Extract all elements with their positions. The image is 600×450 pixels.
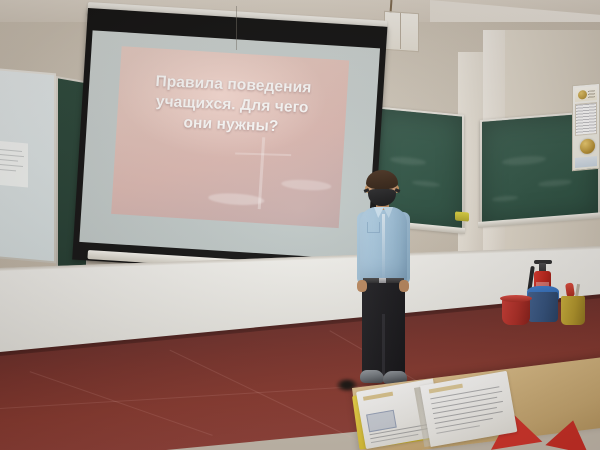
scales-pan-right xyxy=(281,178,332,191)
textbook-header-left xyxy=(363,392,393,401)
ventilation-panel-icon xyxy=(384,11,419,52)
chalkboard-sponge xyxy=(455,211,469,221)
textbook-header-right xyxy=(429,384,463,394)
ventilation-panel-seam xyxy=(400,13,401,49)
projection-screen-frame: Правила поведения учащихся. Для чего они… xyxy=(72,8,387,278)
projected-slide: Правила поведения учащихся. Для чего они… xyxy=(111,46,349,228)
classroom-photo: Правила поведения учащихся. Для чего они… xyxy=(0,0,600,450)
wall-certificate-poster xyxy=(572,83,600,171)
face-mask-icon xyxy=(368,189,396,206)
textbook-figure xyxy=(366,410,397,433)
yellow-bucket xyxy=(561,296,585,325)
poster-header xyxy=(575,86,597,102)
scales-pan-left xyxy=(208,192,265,206)
poster-title-text xyxy=(588,90,595,98)
student-shoe-left xyxy=(360,370,384,383)
shirt-pocket xyxy=(367,222,380,233)
poster-body-text xyxy=(575,102,597,136)
screen-hanging-wire xyxy=(236,6,237,50)
shirt-placket xyxy=(382,214,385,280)
standing-student xyxy=(352,172,414,390)
trouser-crease xyxy=(382,314,385,376)
slide-title-text: Правила поведения учащихся. Для чего они… xyxy=(124,71,340,139)
student-right-hand xyxy=(399,280,409,292)
projection-screen-surface: Правила поведения учащихся. Для чего они… xyxy=(79,30,380,260)
poster-crest-icon xyxy=(578,90,587,100)
belt-buckle xyxy=(379,278,386,283)
blue-bin xyxy=(528,292,558,322)
red-bucket-rim xyxy=(500,295,532,302)
red-bucket xyxy=(502,298,530,325)
poster-footer xyxy=(575,156,597,168)
student-left-hand xyxy=(357,280,367,292)
student-hair xyxy=(366,170,398,189)
poster-gold-seal-icon xyxy=(580,138,595,154)
whiteboard-paper-notice xyxy=(0,141,28,188)
